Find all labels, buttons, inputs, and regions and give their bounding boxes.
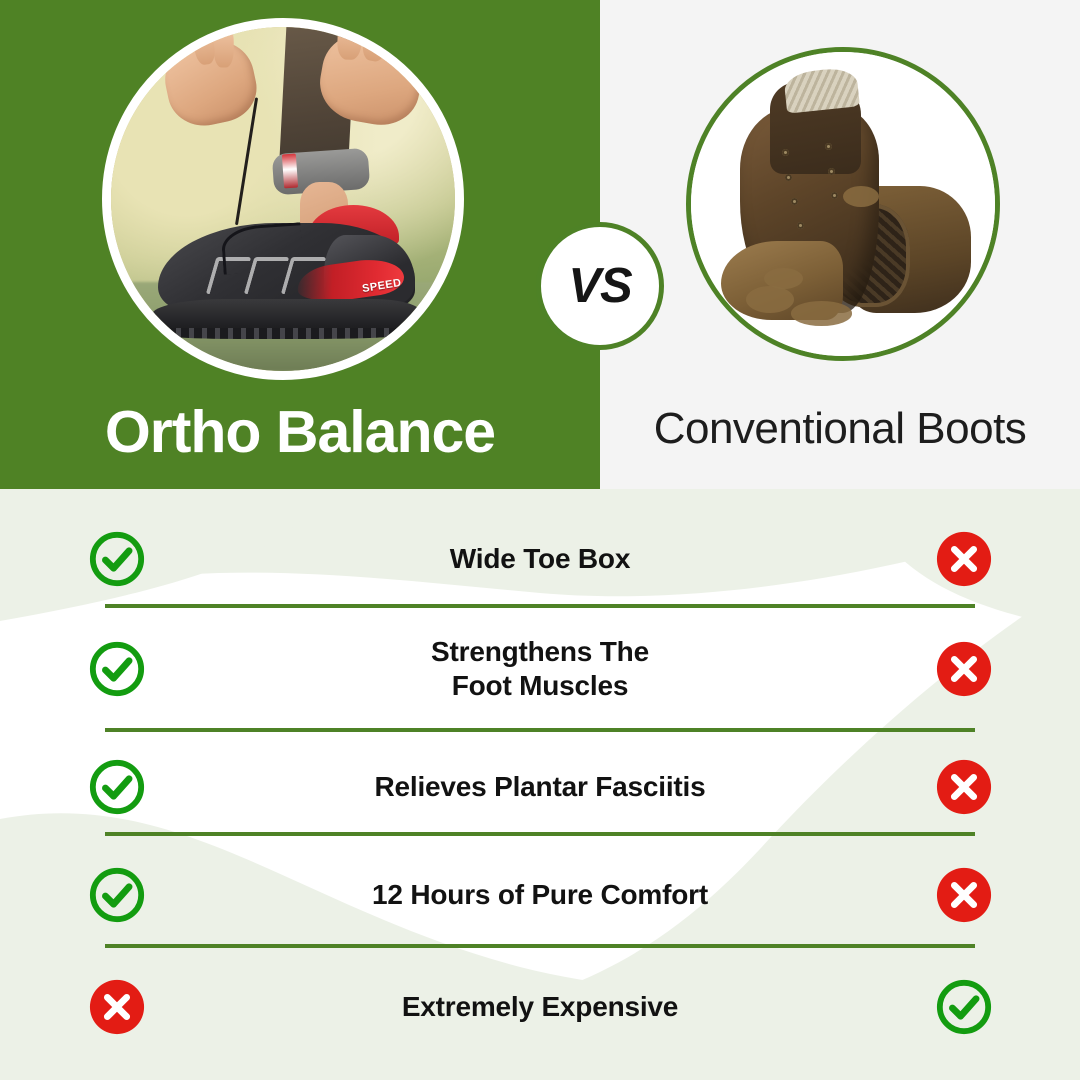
boot-eyelet bbox=[785, 174, 792, 181]
finger bbox=[214, 24, 234, 67]
row-5-label: Extremely Expensive bbox=[233, 990, 847, 1024]
table-row: Extremely Expensive bbox=[0, 959, 1080, 1055]
row-1-left-status bbox=[0, 530, 233, 588]
x-circle-icon bbox=[935, 866, 993, 924]
x-circle-icon bbox=[935, 640, 993, 698]
table-row: Strengthens The Foot Muscles bbox=[0, 614, 1080, 724]
product-image-conventional-boots bbox=[686, 47, 1000, 361]
mud-splatter bbox=[791, 301, 852, 325]
comparison-table: Wide Toe Box Strengthens The Foot Muscle… bbox=[0, 489, 1080, 1080]
row-separator-3 bbox=[105, 832, 975, 836]
product-image-ortho-balance: SPEED bbox=[102, 18, 464, 380]
row-4-right-status bbox=[847, 866, 1080, 924]
row-3-label: Relieves Plantar Fasciitis bbox=[233, 770, 847, 804]
row-3-left-status bbox=[0, 758, 233, 816]
comparison-infographic: SPEED bbox=[0, 0, 1080, 1080]
shoe-tread bbox=[168, 328, 404, 339]
boot-eyelet bbox=[828, 168, 835, 175]
shoe-lacing-illustration: SPEED bbox=[111, 27, 455, 371]
column-title-conventional-boots: Conventional Boots bbox=[600, 404, 1080, 454]
check-circle-icon bbox=[88, 866, 146, 924]
x-circle-icon bbox=[935, 530, 993, 588]
row-separator-2 bbox=[105, 728, 975, 732]
check-circle-icon bbox=[88, 758, 146, 816]
row-1-right-status bbox=[847, 530, 1080, 588]
header-section: SPEED bbox=[0, 0, 1080, 489]
row-2-right-status bbox=[847, 640, 1080, 698]
check-circle-icon bbox=[88, 640, 146, 698]
row-5-right-status bbox=[847, 978, 1080, 1036]
row-2-label: Strengthens The Foot Muscles bbox=[233, 635, 847, 703]
muddy-boots-illustration bbox=[691, 52, 995, 356]
row-2-label-line-2: Foot Muscles bbox=[233, 669, 847, 703]
table-row: Relieves Plantar Fasciitis bbox=[0, 739, 1080, 835]
check-circle-icon bbox=[88, 530, 146, 588]
boot-eyelet bbox=[831, 192, 838, 199]
check-circle-icon bbox=[935, 978, 993, 1036]
athletic-shoe: SPEED bbox=[152, 213, 420, 337]
row-separator-4 bbox=[105, 944, 975, 948]
row-2-left-status bbox=[0, 640, 233, 698]
column-title-ortho-balance: Ortho Balance bbox=[0, 398, 600, 466]
row-4-left-status bbox=[0, 866, 233, 924]
x-circle-icon bbox=[935, 758, 993, 816]
row-4-label: 12 Hours of Pure Comfort bbox=[233, 878, 847, 912]
table-row: Wide Toe Box bbox=[0, 511, 1080, 607]
row-1-label: Wide Toe Box bbox=[233, 542, 847, 576]
cuff-stripe bbox=[282, 154, 298, 189]
row-3-right-status bbox=[847, 758, 1080, 816]
vs-badge: VS bbox=[536, 222, 664, 350]
row-5-left-status bbox=[0, 978, 233, 1036]
x-circle-icon bbox=[88, 978, 146, 1036]
row-separator-1 bbox=[105, 604, 975, 608]
vs-label: VS bbox=[568, 262, 631, 311]
row-2-label-line-1: Strengthens The bbox=[233, 635, 847, 669]
boot-eyelet bbox=[825, 143, 832, 150]
table-row: 12 Hours of Pure Comfort bbox=[0, 847, 1080, 943]
